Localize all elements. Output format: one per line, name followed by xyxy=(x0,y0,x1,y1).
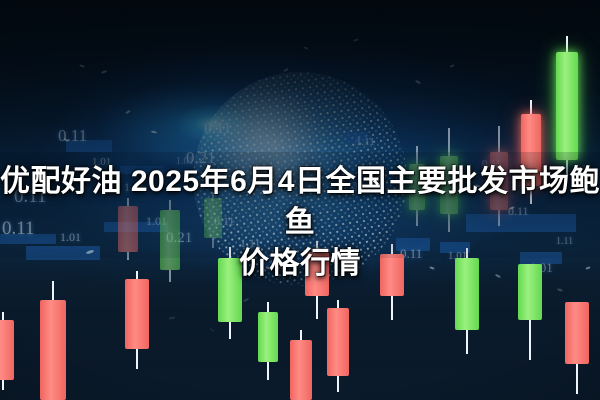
candle-wick xyxy=(267,302,269,380)
candle-wick xyxy=(576,330,578,394)
ticker-value: 1.11 xyxy=(356,136,375,148)
title-line-2: 价格行情 xyxy=(0,243,600,284)
ticker-value: 0.11 xyxy=(204,120,231,138)
candle-body xyxy=(290,340,312,400)
ticker-value: 0.11 xyxy=(58,126,87,146)
title-line-1: 优配好油 2025年6月4日全国主要批发市场鲍鱼 xyxy=(0,161,600,243)
candle-body xyxy=(40,300,66,400)
candle-body xyxy=(327,308,349,376)
candle-wick xyxy=(337,300,339,392)
candle-wick xyxy=(2,312,4,390)
candle-body xyxy=(565,302,589,364)
candle-body xyxy=(125,279,149,349)
candle-body xyxy=(258,312,278,362)
candle-wick xyxy=(529,298,531,360)
candle-wick xyxy=(136,271,138,369)
candle-wick xyxy=(300,330,302,400)
candle-body xyxy=(0,320,14,380)
banner-image: 0.111.010.110.111.011.111.011.010.110.21… xyxy=(0,0,600,400)
page-title: 优配好油 2025年6月4日全国主要批发市场鲍鱼 价格行情 xyxy=(0,161,600,284)
candle-wick xyxy=(52,281,54,400)
